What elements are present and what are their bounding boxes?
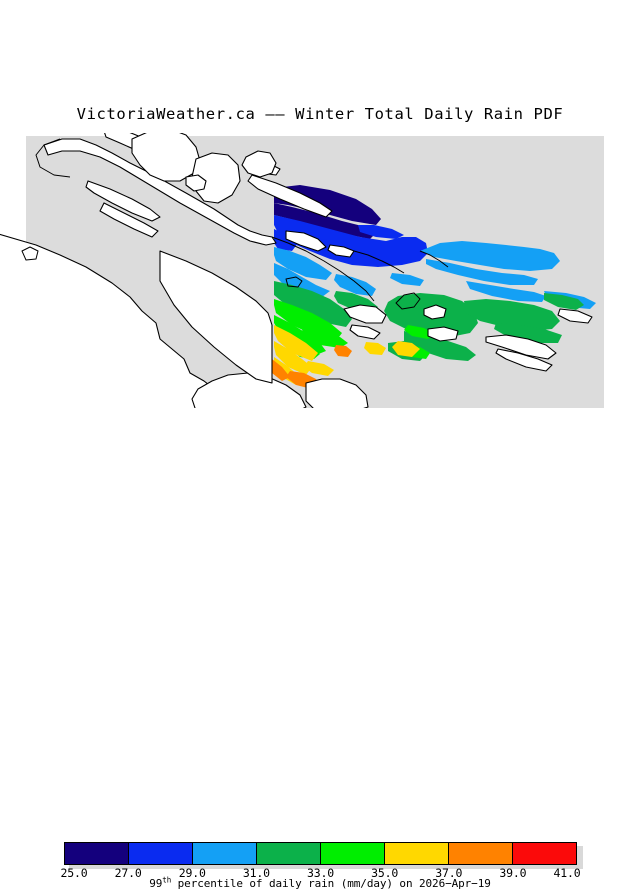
caption-post: percentile of daily rain (mm/day) on 202… — [171, 877, 491, 890]
colorbar-block: 25.027.029.031.033.035.037.039.041.0 99t… — [0, 418, 640, 480]
colorbar-segment-6[interactable] — [449, 843, 513, 864]
colorbar-segment-2[interactable] — [193, 843, 257, 864]
map-panel — [0, 133, 640, 408]
colorbar-caption: 99th percentile of daily rain (mm/day) o… — [0, 877, 640, 890]
colorbar-segment-5[interactable] — [385, 843, 449, 864]
caption-superscript: th — [162, 875, 171, 884]
colorbar-segment-7[interactable] — [513, 843, 576, 864]
contour-map — [0, 133, 640, 408]
colorbar-segment-0[interactable] — [65, 843, 129, 864]
caption-pre: 99 — [149, 877, 162, 890]
colorbar-segment-4[interactable] — [321, 843, 385, 864]
weather-map-figure: VictoriaWeather.ca —— Winter Total Daily… — [0, 0, 640, 480]
colorbar[interactable] — [64, 842, 577, 865]
colorbar-segment-1[interactable] — [129, 843, 193, 864]
colorbar-segment-3[interactable] — [257, 843, 321, 864]
figure-title: VictoriaWeather.ca —— Winter Total Daily… — [0, 105, 640, 123]
